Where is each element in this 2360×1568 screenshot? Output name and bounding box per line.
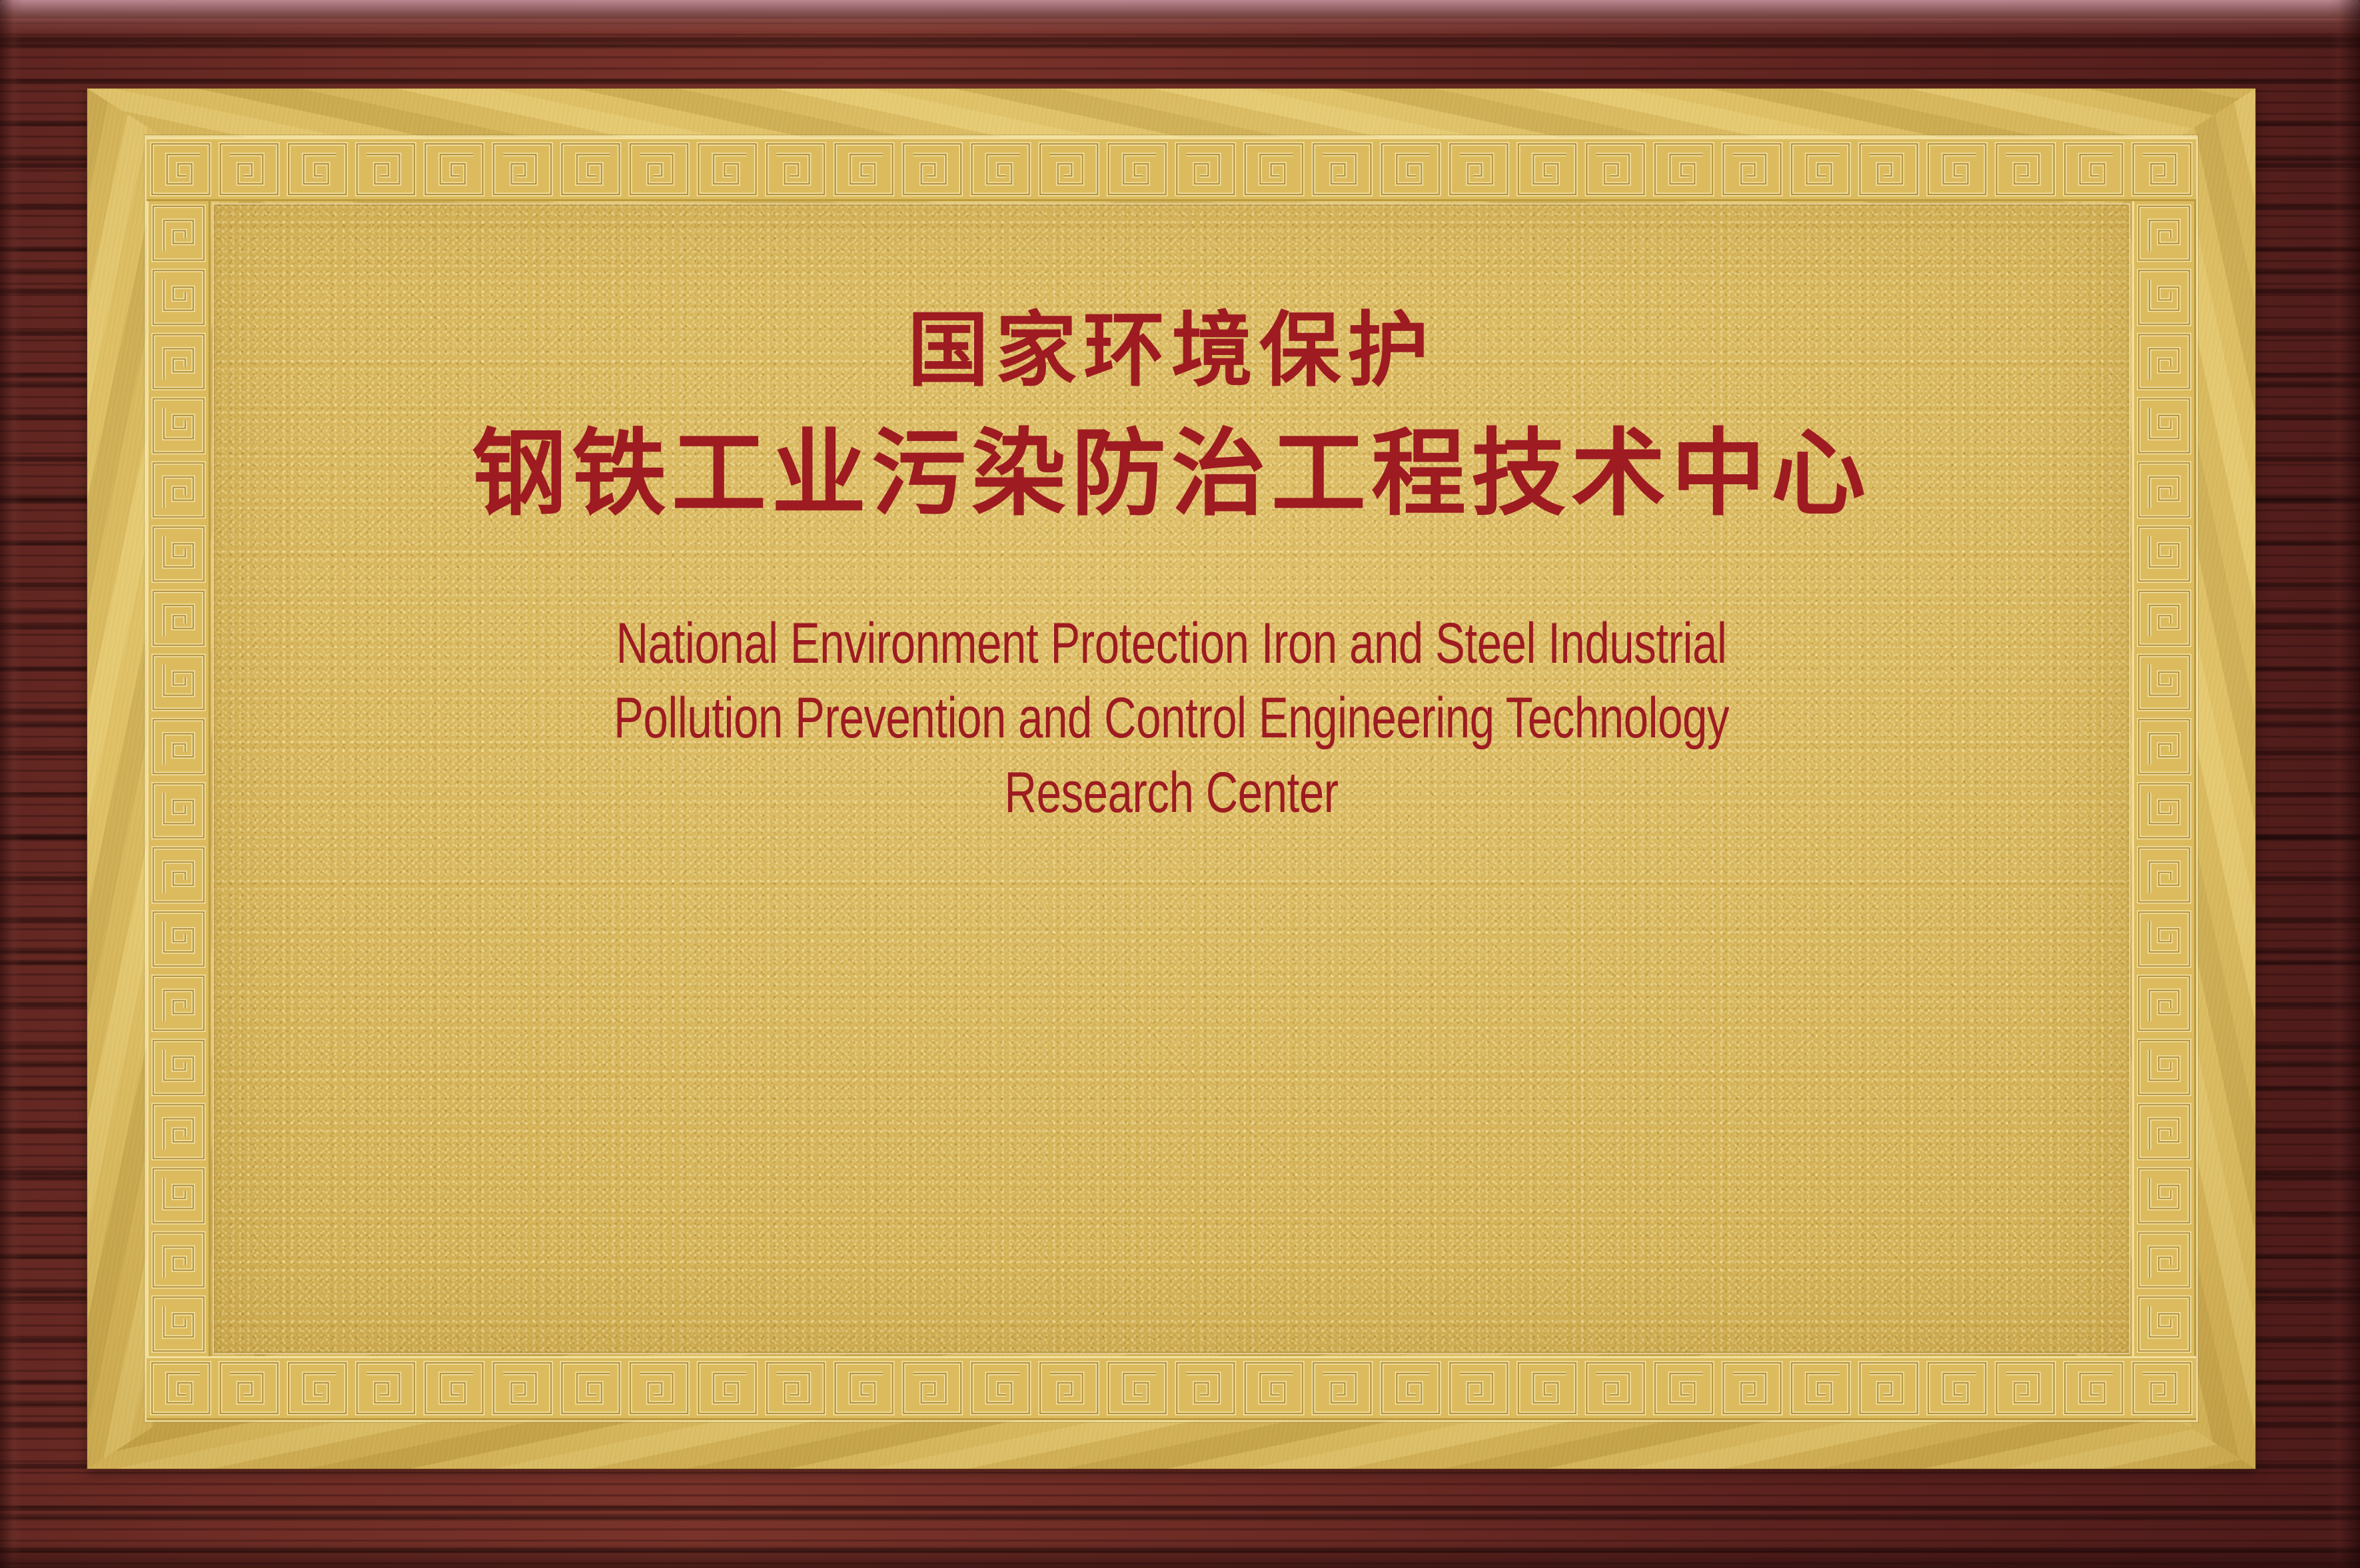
frame-top-bevel-highlight — [0, 0, 2360, 20]
meander-band-right — [2132, 201, 2196, 1356]
title-chinese-line-2: 钢铁工业污染防治工程技术中心 — [472, 427, 1871, 522]
title-english-block: National Environment Protection Iron and… — [614, 607, 1729, 830]
title-english-line-1: National Environment Protection Iron and… — [614, 607, 1729, 681]
award-plaque: 国家环境保护 钢铁工业污染防治工程技术中心 National Environme… — [0, 0, 2360, 1568]
gold-plate: 国家环境保护 钢铁工业污染防治工程技术中心 National Environme… — [87, 89, 2255, 1469]
title-english-line-2: Pollution Prevention and Control Enginee… — [614, 681, 1729, 756]
meander-band-bottom — [147, 1356, 2196, 1420]
frame-bevel-top — [0, 19, 2360, 36]
frame-bevel-right — [2329, 0, 2360, 1568]
meander-band-left — [147, 201, 211, 1356]
meander-border-frame: 国家环境保护 钢铁工业污染防治工程技术中心 National Environme… — [145, 135, 2198, 1422]
frame-bevel-bottom — [0, 1541, 2360, 1568]
frame-bevel-left — [0, 0, 23, 1568]
title-english-line-3: Research Center — [614, 756, 1729, 831]
title-chinese-line-1: 国家环境保护 — [907, 310, 1435, 391]
meander-band-top — [147, 137, 2196, 201]
plaque-text-block: 国家环境保护 钢铁工业污染防治工程技术中心 National Environme… — [213, 203, 2130, 1354]
